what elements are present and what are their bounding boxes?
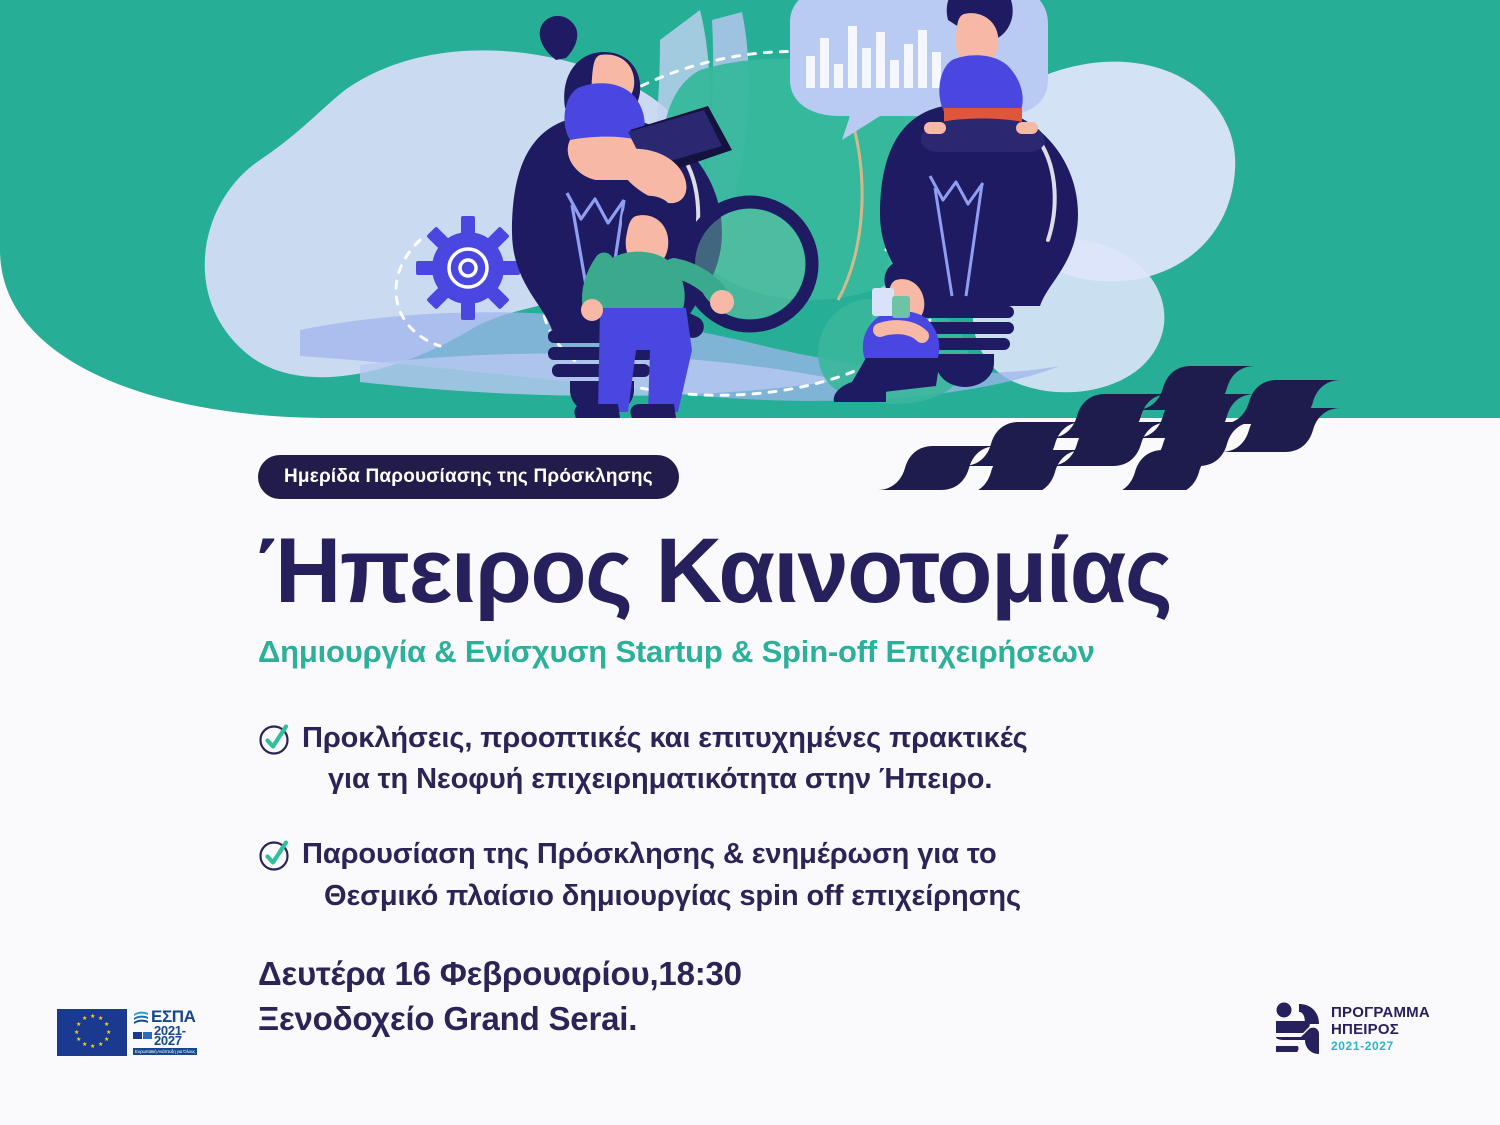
list-item: Παρουσίαση της Πρόσκλησης & ενημέρωση γι… (258, 834, 1258, 916)
hero-illustration (0, 0, 1500, 420)
epirus-mark-icon (1275, 1002, 1323, 1056)
list-item-text: Προκλήσεις, προοπτικές και επιτυχημένες … (302, 718, 1028, 800)
espa-flags-icon (133, 1032, 152, 1040)
espa-years: 2021-2027 (154, 1026, 197, 1046)
page-title: Ήπειρος Καινοτομίας (258, 525, 1258, 619)
programme-line2: ΗΠΕΙΡΟΣ (1331, 1021, 1430, 1038)
check-circle-icon (258, 722, 292, 756)
poster-content: Ημερίδα Παρουσίασης της Πρόσκλησης Ήπειρ… (258, 455, 1258, 1042)
programme-line1: ΠΡΟΓΡΑΜΜΑ (1331, 1004, 1430, 1021)
gear-icon (416, 216, 520, 320)
espa-swoosh-icon (133, 1009, 149, 1025)
list-item-line2: Θεσμικό πλαίσιο δημιουργίας spin off επι… (302, 876, 1021, 917)
event-type-badge: Ημερίδα Παρουσίασης της Πρόσκλησης (258, 455, 679, 499)
poster-canvas: Ημερίδα Παρουσίασης της Πρόσκλησης Ήπειρ… (0, 0, 1500, 1125)
page-subtitle: Δημιουργία & Ενίσχυση Startup & Spin-off… (258, 633, 1258, 670)
list-item: Προκλήσεις, προοπτικές και επιτυχημένες … (258, 718, 1258, 800)
list-item-text: Παρουσίαση της Πρόσκλησης & ενημέρωση γι… (302, 834, 1021, 916)
programme-logo: ΠΡΟΓΡΑΜΜΑ ΗΠΕΙΡΟΣ 2021-2027 (1275, 996, 1435, 1062)
programme-line3: 2021-2027 (1331, 1038, 1430, 1054)
eu-flag-icon: ★ ★ ★ ★ ★ ★ ★ ★ ★ ★ ★ ★ (57, 1009, 127, 1056)
event-details: Δευτέρα 16 Φεβρουαρίου,18:30 Ξενοδοχείο … (258, 951, 1258, 1042)
event-datetime: Δευτέρα 16 Φεβρουαρίου,18:30 (258, 951, 1258, 997)
event-venue: Ξενοδοχείο Grand Serai. (258, 996, 1258, 1042)
espa-logo: ★ ★ ★ ★ ★ ★ ★ ★ ★ ★ ★ ★ (57, 1006, 197, 1058)
check-circle-icon (258, 838, 292, 872)
list-item-line1: Προκλήσεις, προοπτικές και επιτυχημένες … (302, 722, 1028, 754)
bullet-list: Προκλήσεις, προοπτικές και επιτυχημένες … (258, 718, 1258, 917)
list-item-line1: Παρουσίαση της Πρόσκλησης & ενημέρωση γι… (302, 838, 997, 870)
list-item-line2: για τη Νεοφυή επιχειρηματικότητα στην Ήπ… (302, 759, 1028, 800)
espa-tagline: Ευρωπαϊκή Ανάπτυξη για Όλους (133, 1048, 197, 1055)
